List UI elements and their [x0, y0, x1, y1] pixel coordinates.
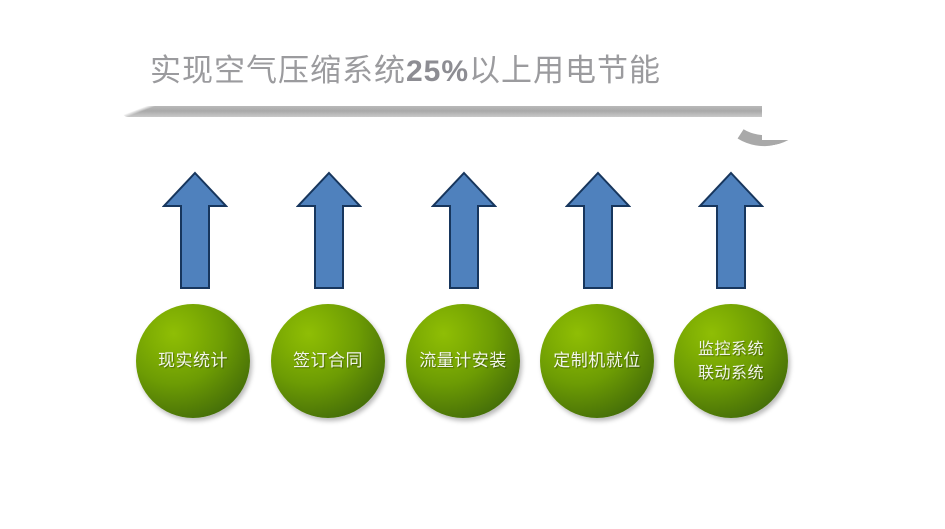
title-percent: 25%: [406, 55, 469, 88]
step-circle-1[interactable]: 现实统计: [136, 304, 250, 418]
page-title: 实现空气压缩系统25%以上用电节能: [150, 48, 770, 96]
up-arrow-icon-5: [698, 171, 764, 290]
title-banner: 实现空气压缩系统25%以上用电节能: [0, 0, 945, 140]
banner-bar-left-taper: [118, 102, 160, 118]
up-arrow-icon-2: [296, 171, 362, 290]
up-arrow-icon-1: [162, 171, 228, 290]
step-label-4: 定制机就位: [549, 350, 645, 373]
step-label-3: 流量计安装: [415, 350, 511, 373]
step-circle-5[interactable]: 监控系统 联动系统: [674, 304, 788, 418]
step-label-5: 监控系统 联动系统: [694, 337, 768, 385]
title-part-after: 以上用电节能: [469, 53, 661, 89]
step-label-2: 签订合同: [289, 350, 367, 373]
up-arrow-icon-3: [431, 171, 497, 290]
banner-tail-mask-right: [762, 30, 945, 140]
step-circle-4[interactable]: 定制机就位: [540, 304, 654, 418]
step-label-1: 现实统计: [154, 350, 232, 373]
banner-bar: [122, 106, 762, 117]
title-part-before: 实现空气压缩系统: [150, 53, 406, 89]
step-circle-3[interactable]: 流量计安装: [406, 304, 520, 418]
slide-canvas: 实现空气压缩系统25%以上用电节能 现实统计 签订合同 流量计安装 定制机: [0, 0, 945, 529]
step-circle-2[interactable]: 签订合同: [271, 304, 385, 418]
up-arrow-icon-4: [565, 171, 631, 290]
